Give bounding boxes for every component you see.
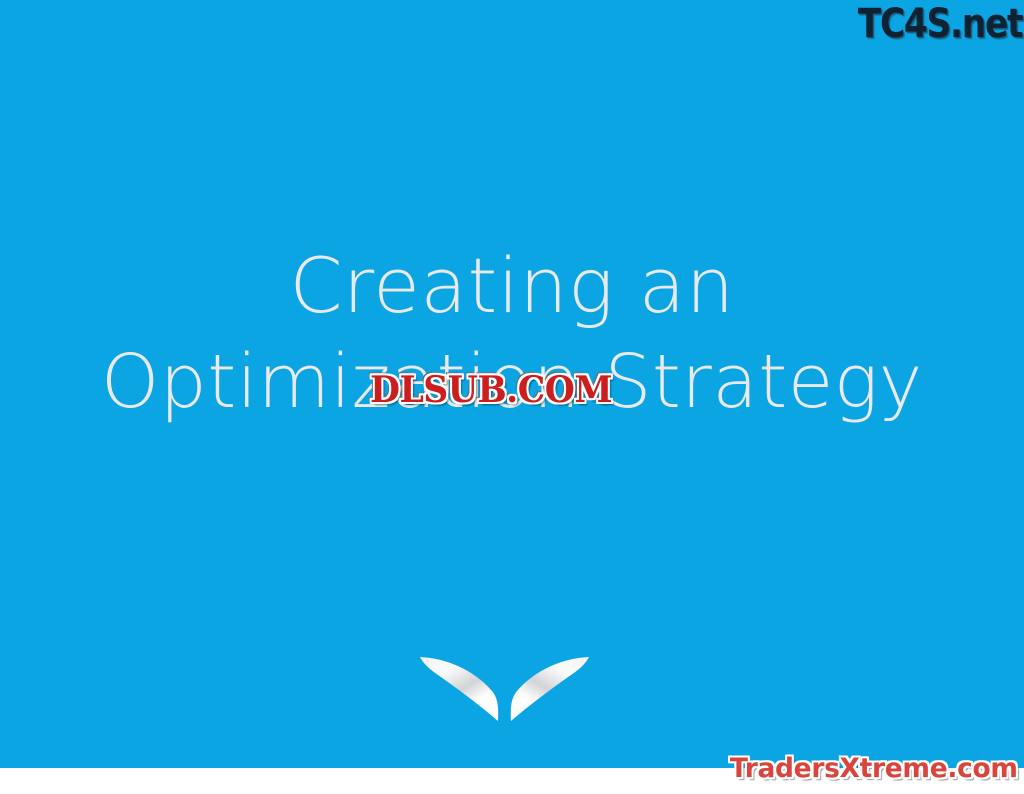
watermark-tradersxtreme: TradersXtreme.com (730, 753, 1018, 785)
title-line-1: Creating an (0, 238, 1024, 334)
winged-v-logo-icon (412, 645, 597, 730)
presentation-slide: Creating an Optimization Strategy (0, 0, 1024, 794)
watermark-dlsub: DLSUB.COM (370, 369, 612, 411)
watermark-tc4s: TC4S.net (858, 2, 1022, 46)
